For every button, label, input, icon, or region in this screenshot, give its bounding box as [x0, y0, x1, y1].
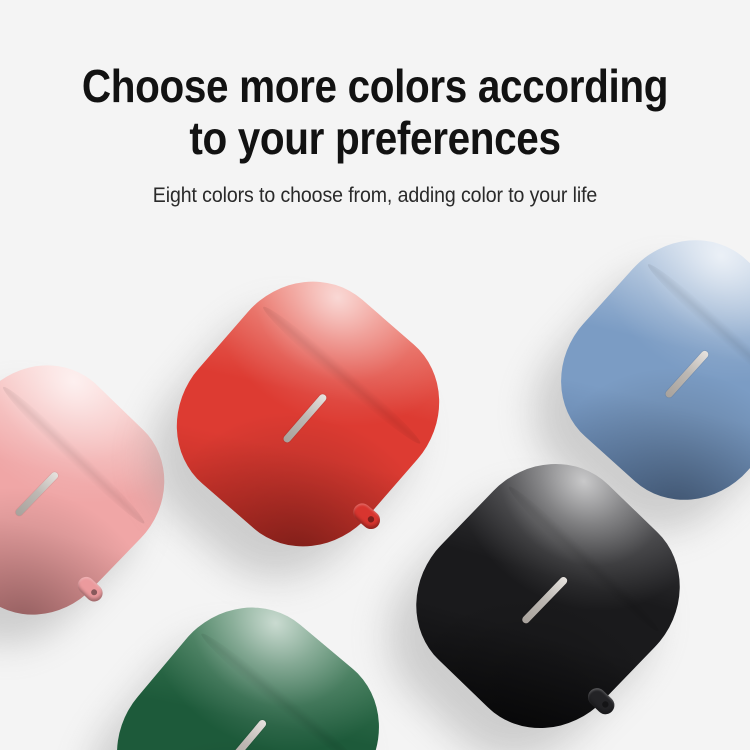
- headline-line-1: Choose more colors according: [45, 60, 705, 112]
- lid-seam: [259, 301, 425, 449]
- lid-seam: [643, 259, 750, 406]
- status-indicator-slot: [664, 349, 710, 399]
- lid-seam: [197, 628, 366, 750]
- product-case-green[interactable]: [126, 606, 370, 750]
- product-case-pink[interactable]: [0, 364, 155, 616]
- status-indicator-slot: [14, 470, 59, 517]
- product-color-banner: Choose more colors according to your pre…: [0, 0, 750, 750]
- product-case-black[interactable]: [426, 462, 670, 729]
- status-indicator-slot: [521, 575, 569, 624]
- carabiner-loop: [350, 499, 384, 532]
- product-case-red[interactable]: [186, 280, 430, 547]
- page-title: Choose more colors according to your pre…: [45, 60, 705, 164]
- status-indicator-slot: [282, 392, 328, 443]
- page-subtitle: Eight colors to choose from, adding colo…: [26, 183, 724, 209]
- status-indicator-slot: [222, 718, 267, 750]
- headline-line-2: to your preferences: [45, 112, 705, 164]
